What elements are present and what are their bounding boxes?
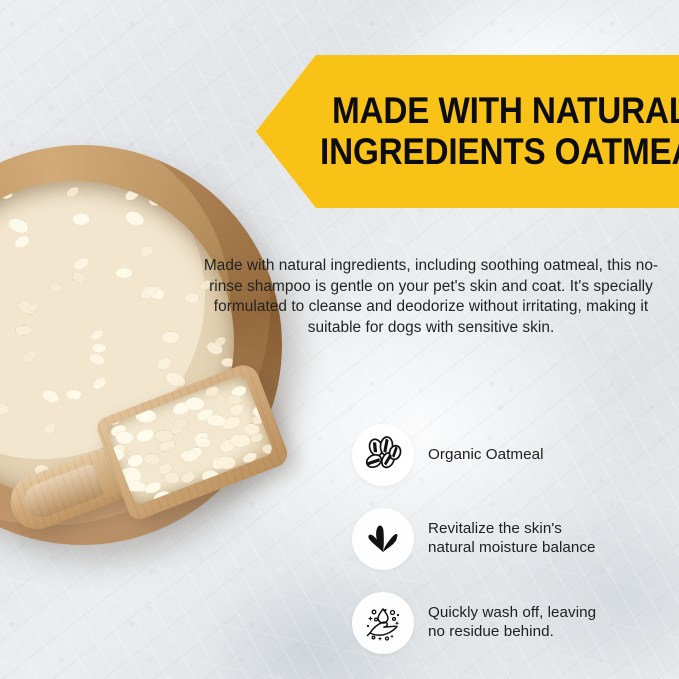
hand-wash-droplet-icon xyxy=(352,592,414,654)
product-feature-image: MADE WITH NATURAL INGREDIENTS OATMEAL Ma… xyxy=(0,0,679,679)
headline-line-2: INGREDIENTS OATMEAL xyxy=(320,133,643,171)
oatmeal-photograph xyxy=(0,95,330,679)
feature-label: Quickly wash off, leaving no residue beh… xyxy=(428,604,596,642)
scoop-oat-flakes-layer-2 xyxy=(105,383,274,496)
feature-item: Quickly wash off, leaving no residue beh… xyxy=(352,592,662,654)
headline-line-1: MADE WITH NATURAL xyxy=(332,92,644,130)
feature-label: Revitalize the skin's natural moisture b… xyxy=(428,520,596,558)
water-splash-icon xyxy=(352,508,414,570)
oat-grains-icon xyxy=(352,424,414,486)
feature-label: Organic Oatmeal xyxy=(428,446,544,465)
feature-label-line-1: Quickly wash off, leaving xyxy=(428,604,596,623)
feature-label-line-2: no residue behind. xyxy=(428,623,596,642)
feature-label-line-1: Organic Oatmeal xyxy=(428,446,544,465)
feature-list: Organic Oatmeal Revitalize the skin's na… xyxy=(352,424,662,676)
headline-banner: MADE WITH NATURAL INGREDIENTS OATMEAL xyxy=(256,55,679,208)
feature-item: Organic Oatmeal xyxy=(352,424,662,486)
feature-label-line-1: Revitalize the skin's xyxy=(428,520,596,539)
feature-item: Revitalize the skin's natural moisture b… xyxy=(352,508,662,570)
description-paragraph: Made with natural ingredients, including… xyxy=(196,256,666,339)
feature-label-line-2: natural moisture balance xyxy=(428,539,596,558)
